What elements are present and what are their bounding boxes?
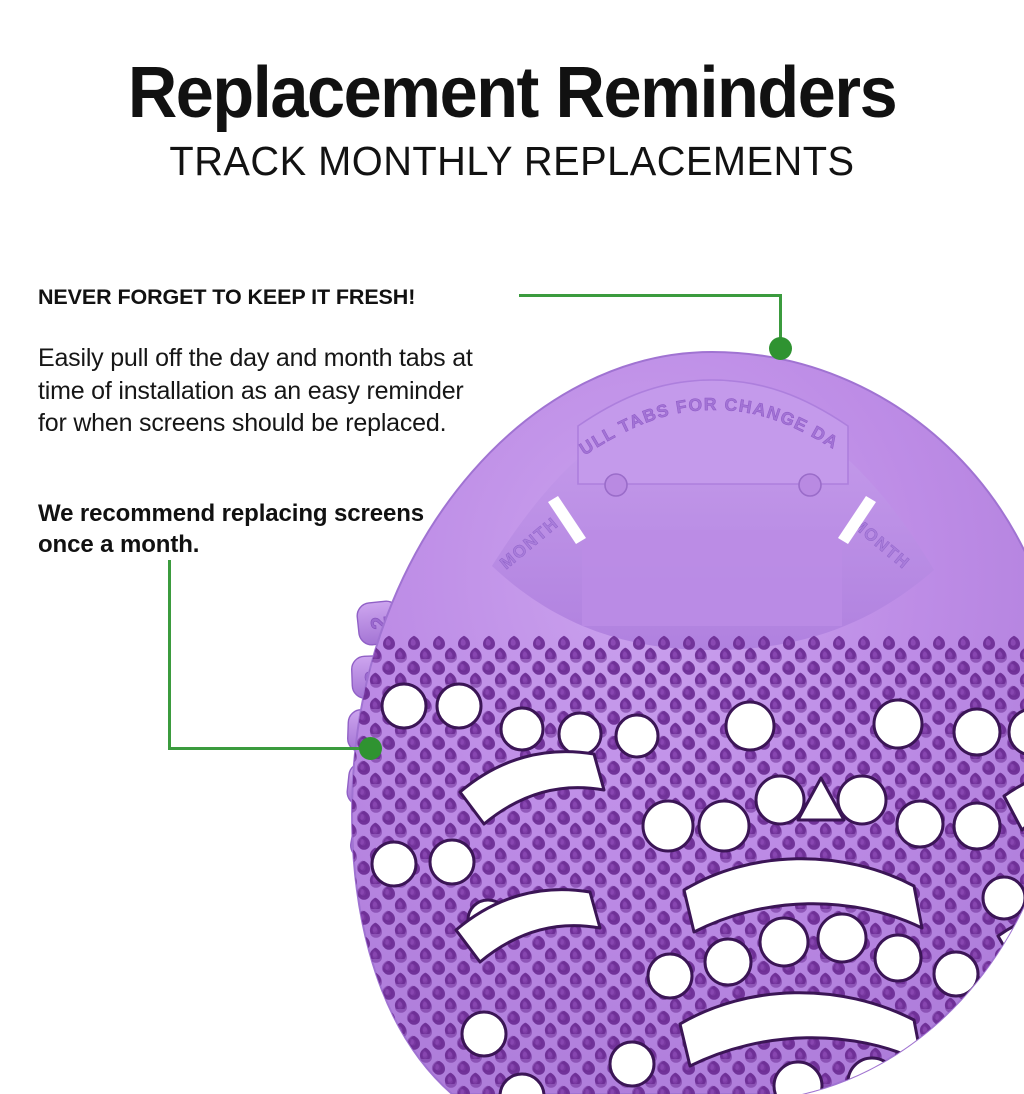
svg-text:A: A — [925, 486, 954, 515]
svg-text:J: J — [539, 448, 566, 473]
callout-heading-recommend: We recommend replacing screens once a mo… — [38, 498, 438, 560]
page-title: Replacement Reminders — [26, 56, 999, 130]
urinal-screen-image: J M A M F J J — [332, 334, 1024, 1094]
day-tabs-left: 2 3 4 5 6 7 8 — [346, 600, 453, 968]
svg-text:4: 4 — [356, 724, 382, 738]
svg-text:7: 7 — [369, 881, 397, 900]
svg-text:A: A — [467, 530, 494, 560]
callout-heading-never-forget: NEVER FORGET TO KEEP IT FRESH! — [38, 284, 415, 310]
month-tabs-right: J A S — [872, 432, 1024, 623]
month-tabs-left: J M A M F J — [393, 432, 580, 721]
svg-text:J: J — [408, 685, 424, 712]
svg-text:8: 8 — [383, 930, 412, 951]
connector-line-bottom-horizontal — [168, 747, 370, 750]
connector-line-top-horizontal — [519, 294, 782, 297]
page-subtitle: TRACK MONTHLY REPLACEMENTS — [15, 137, 1008, 185]
month-label-right: MONTH — [848, 513, 914, 573]
svg-text:M: M — [438, 577, 466, 608]
svg-text:M: M — [499, 485, 530, 516]
connector-line-bottom-vertical — [168, 560, 171, 750]
svg-text:S: S — [961, 532, 987, 561]
svg-text:3: 3 — [360, 670, 386, 684]
svg-text:6: 6 — [359, 830, 387, 847]
svg-text:2: 2 — [365, 615, 392, 630]
connector-dot-top — [769, 337, 792, 360]
callout-body-never-forget: Easily pull off the day and month tabs a… — [38, 342, 488, 440]
connector-dot-bottom — [359, 737, 382, 760]
svg-text:5: 5 — [355, 777, 382, 793]
svg-text:J: J — [886, 448, 913, 473]
month-label-left: MONTH — [496, 513, 562, 573]
svg-text:F: F — [420, 631, 441, 659]
